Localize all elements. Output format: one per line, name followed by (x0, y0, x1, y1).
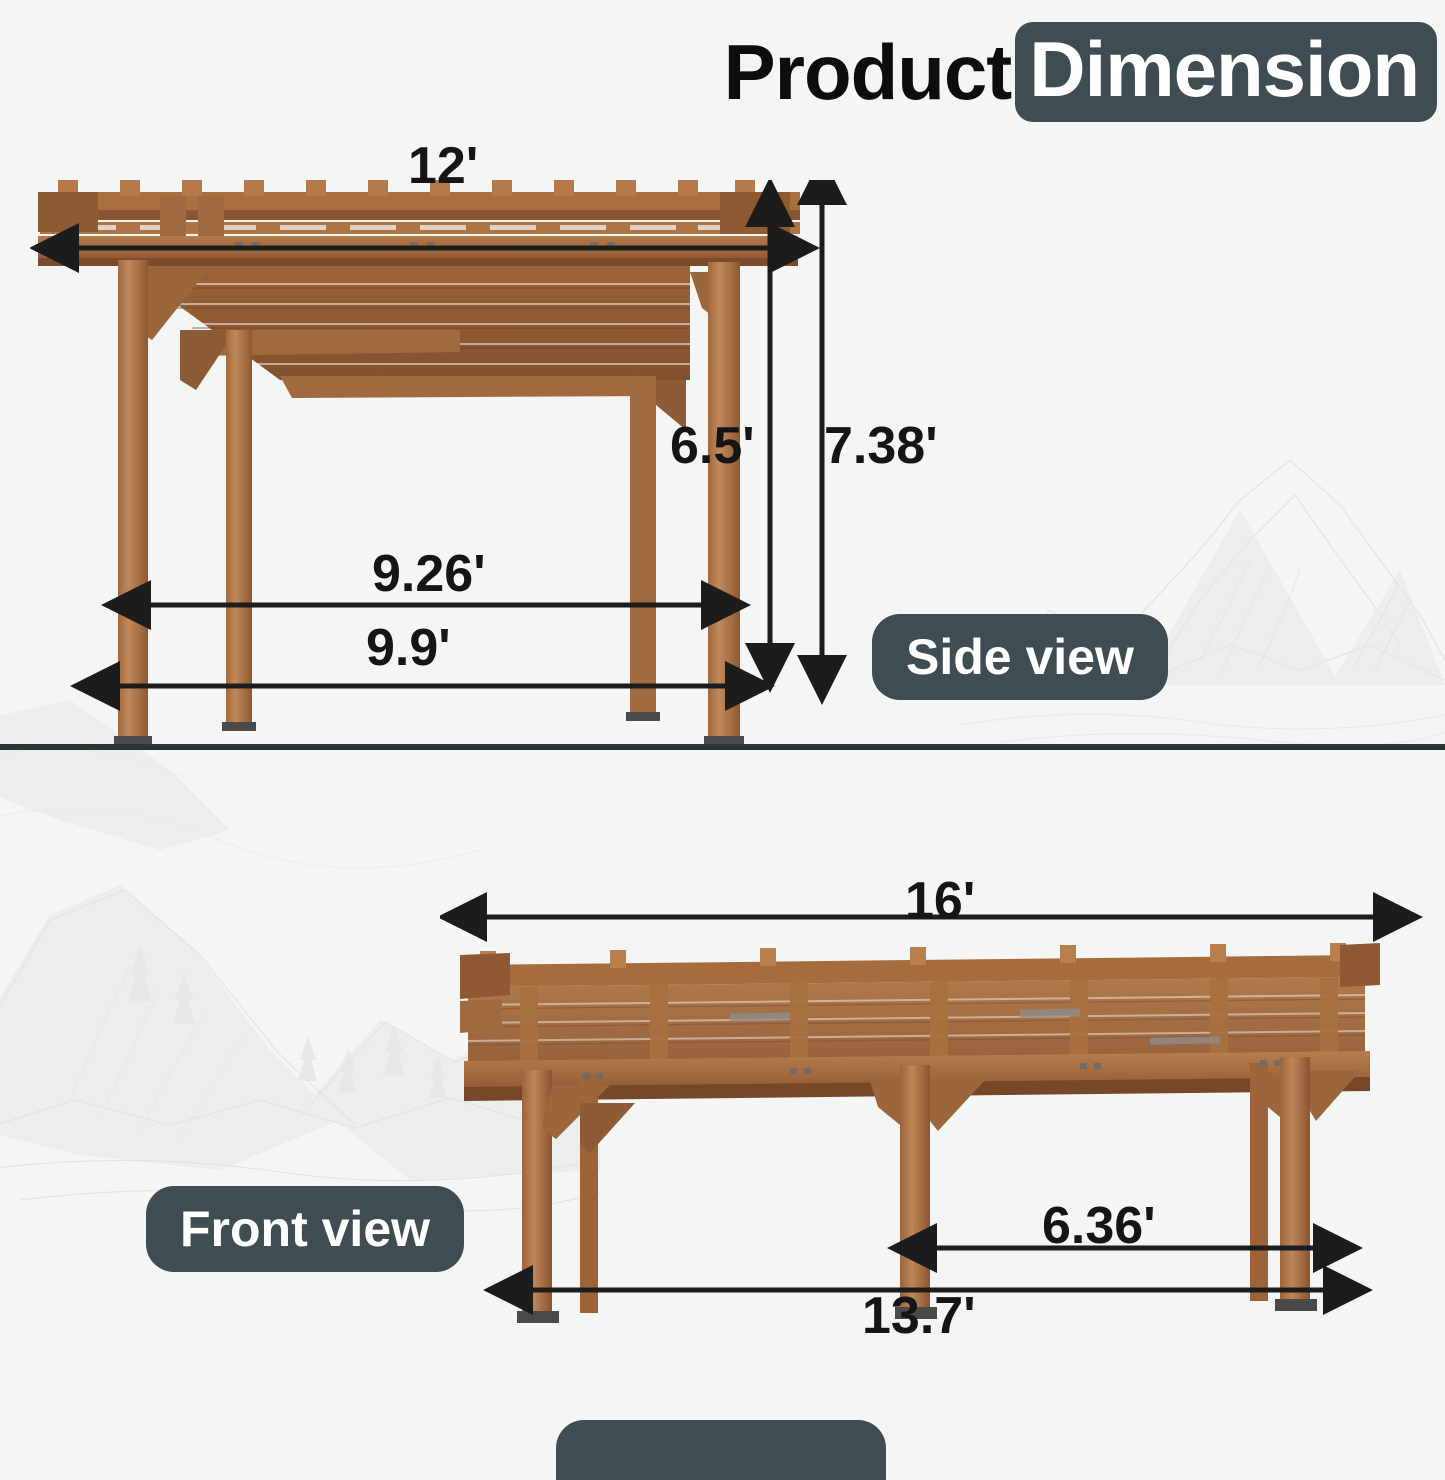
side-view-badge: Side view (872, 614, 1168, 700)
page-title-badge: Dimension (1015, 22, 1437, 122)
dim-label-bay-span: 6.36' (1042, 1200, 1156, 1252)
front-view-badge: Front view (146, 1186, 464, 1272)
dim-label-clearance-height: 6.5' (670, 420, 755, 472)
dim-label-post-outer-span: 9.9' (366, 622, 451, 674)
page-title: Product Dimension (0, 22, 1445, 122)
dim-label-post-inner-span: 9.26' (372, 548, 486, 600)
dim-label-overall-height: 7.38' (824, 420, 938, 472)
page-title-plain: Product (724, 33, 1012, 111)
dim-label-roof-depth: 12' (408, 140, 478, 192)
bottom-cropped-badge (556, 1420, 886, 1480)
product-dimension-page: 12' 6.5' 7.38' 9.26' 9.9' (0, 0, 1445, 1445)
dim-label-roof-width: 16' (905, 875, 975, 927)
side-view-dimension-lines (30, 180, 1030, 920)
section-divider (0, 744, 1445, 750)
dim-label-post-outer-width: 13.7' (862, 1290, 976, 1342)
